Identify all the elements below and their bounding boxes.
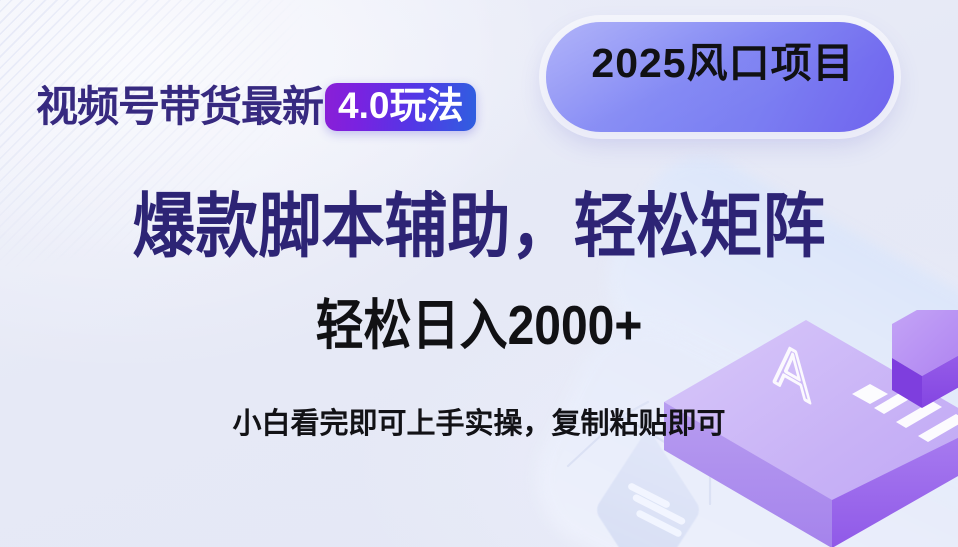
headline-2025-project: 2025风口项目: [553, 40, 893, 88]
version-badge: 4.0玩法: [325, 83, 476, 131]
subtitle-line-1: 视频号带货最新 4.0玩法: [36, 83, 476, 131]
earnings-headline: 轻松日入2000+: [0, 296, 958, 357]
subtitle-line-1-text: 视频号带货最新: [36, 86, 323, 128]
footer-note: 小白看完即可上手实操，复制粘贴即可: [0, 407, 958, 442]
promo-poster: A 2025风口项目 视频号带货最新 4.0玩法 爆款脚本辅助，轻松矩阵 轻松日…: [0, 0, 958, 547]
main-headline: 爆款脚本辅助，轻松矩阵: [0, 188, 958, 267]
